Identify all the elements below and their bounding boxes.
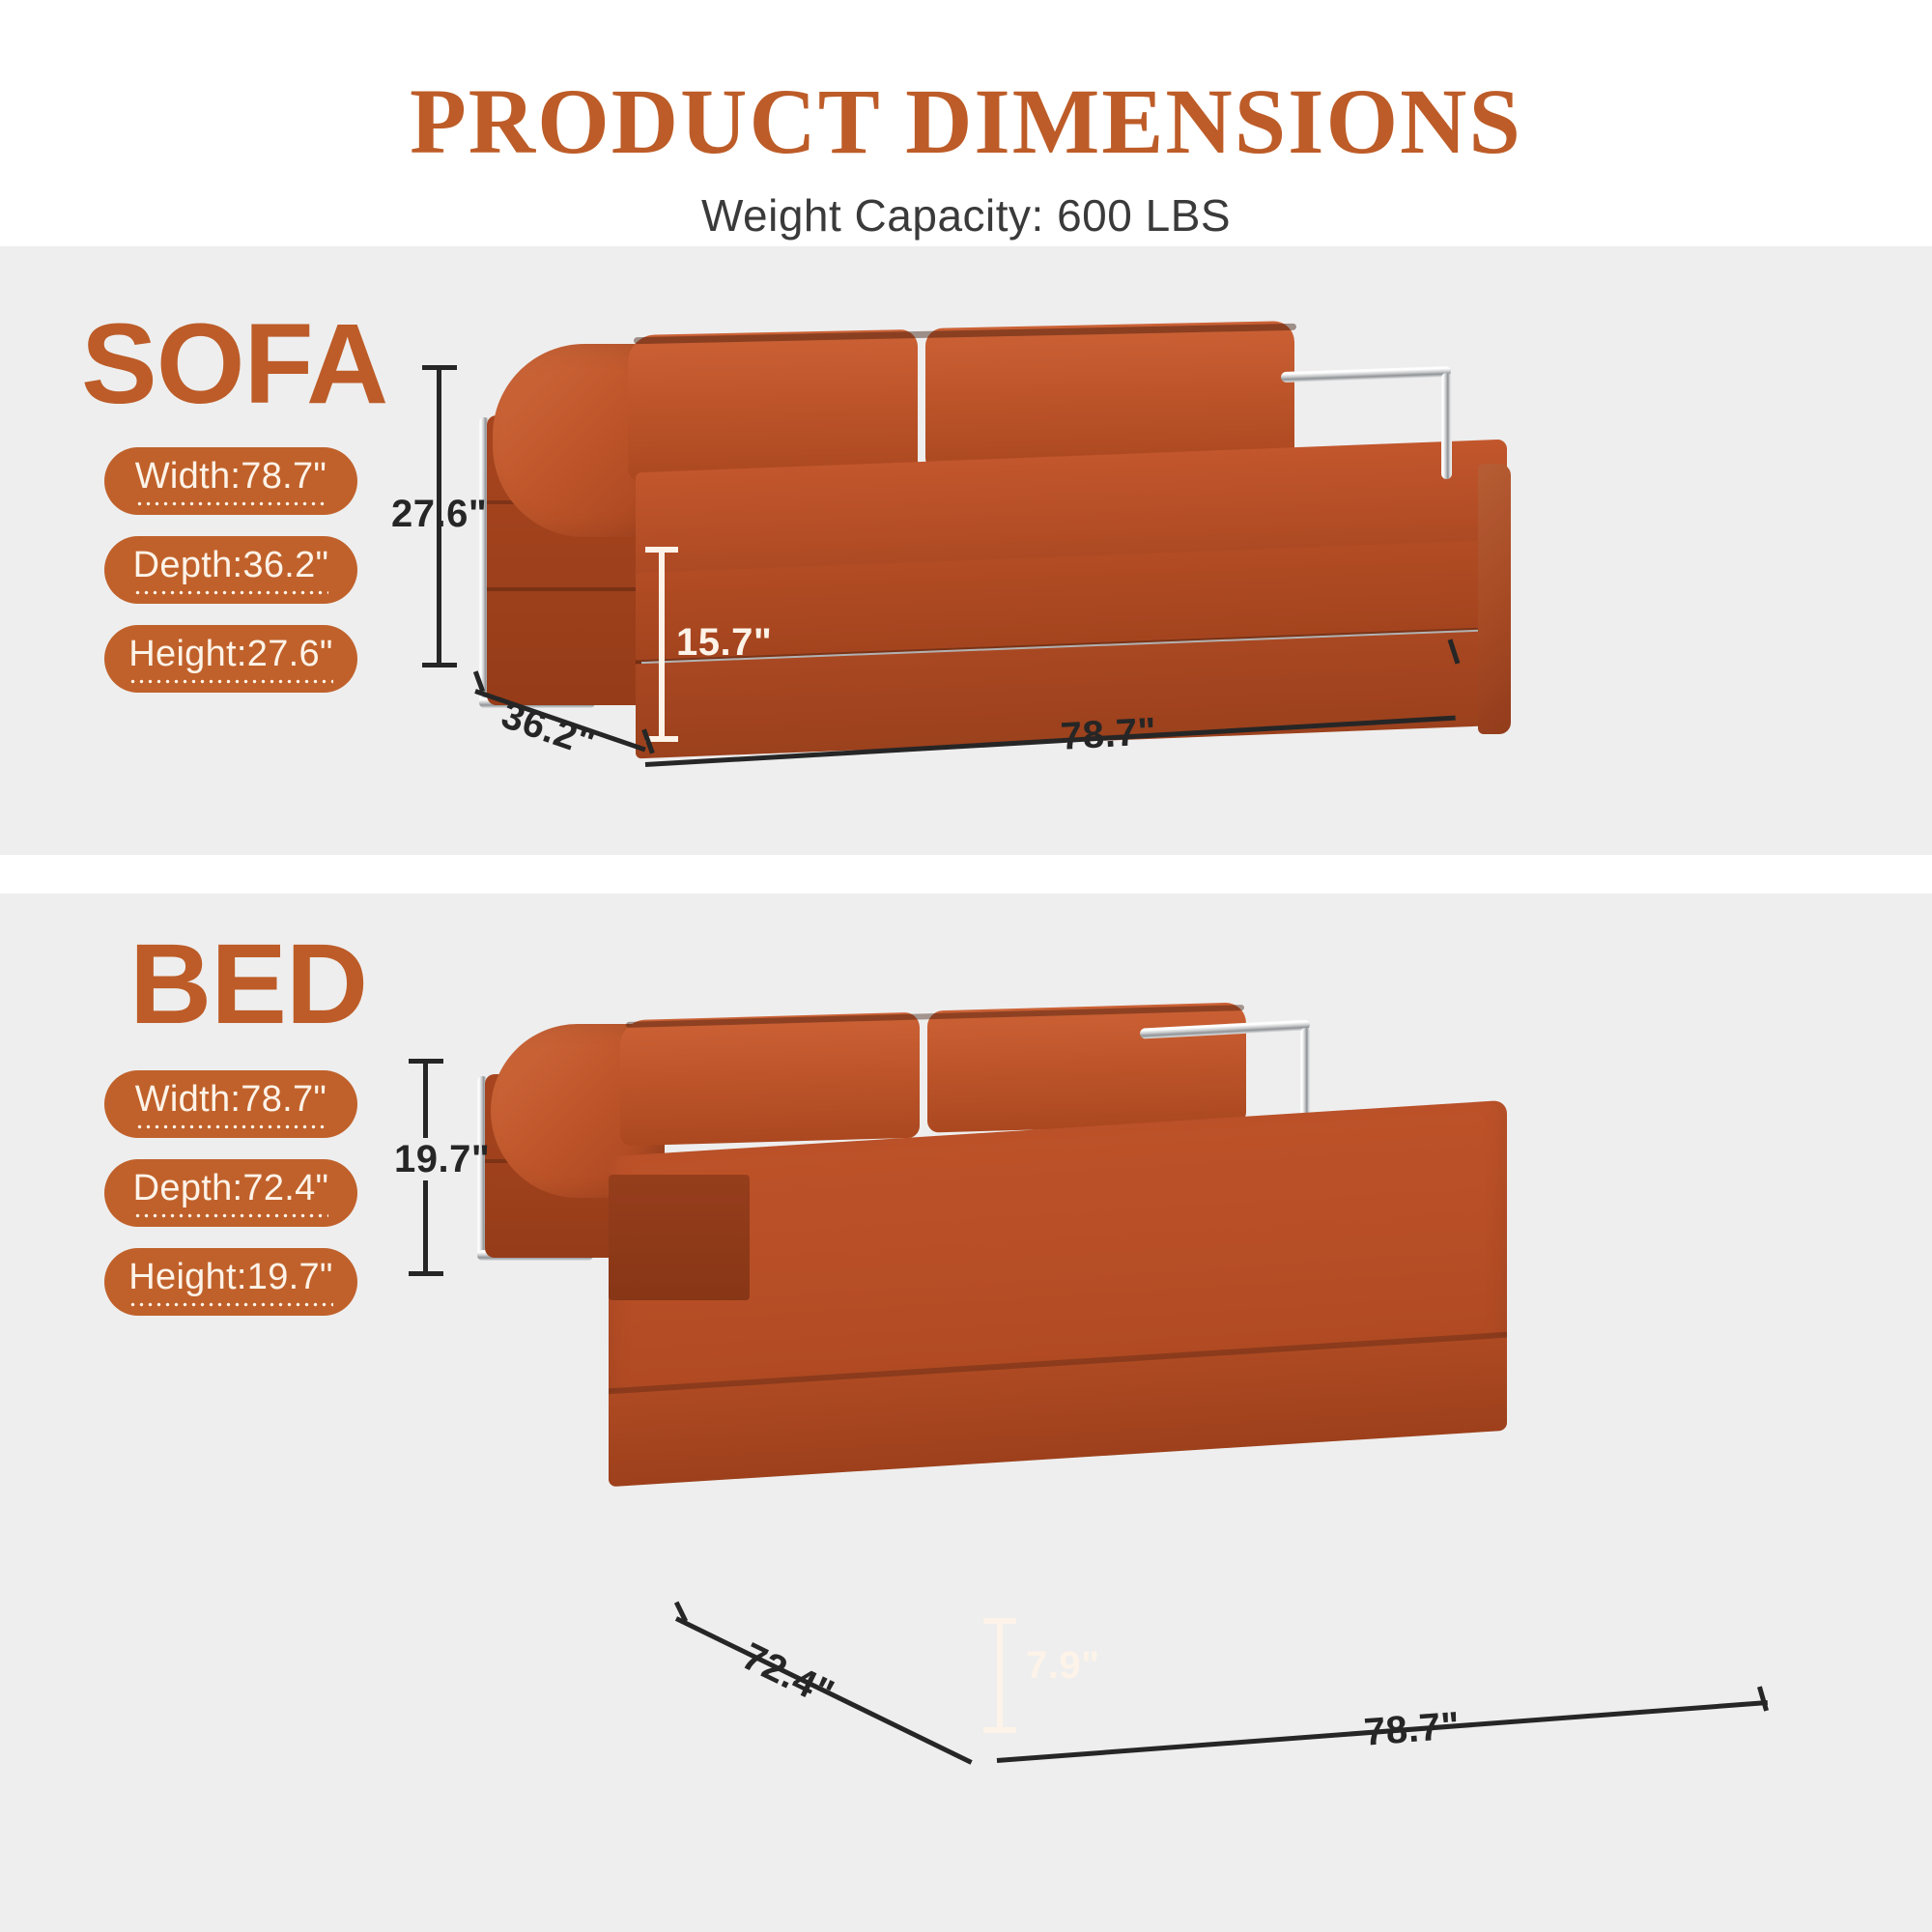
page-title: PRODUCT DIMENSIONS [410,75,1522,168]
sofa-height-dim-label: 27.6" [391,493,487,536]
sofa-height-dim-cap-bottom [422,663,457,668]
bed-pill-depth-text: Depth:72.4" [133,1168,329,1218]
bed-height-dim-label: 19.7" [394,1138,490,1181]
sofa-chrome-rail-right-vert [1441,373,1452,479]
sofa-seat-height-line [659,547,665,740]
bed-pill-height: Height:19.7" [104,1248,357,1316]
sofa-width-dim-label: 78.7" [1060,710,1158,759]
sofa-pill-height: Height:27.6" [104,625,357,693]
bed-pill-width-text: Width:78.7" [135,1079,327,1129]
bed-illustration [464,1005,1546,1623]
header: PRODUCT DIMENSIONS Weight Capacity: 600 … [0,0,1932,246]
bed-pill-depth: Depth:72.4" [104,1159,357,1227]
sofa-right-end-cap [1478,464,1511,734]
bed-section-label: BED [129,927,367,1041]
panel-divider [0,855,1932,894]
sofa-seat-height-label: 15.7" [676,621,772,665]
bed-mattress-height-cap-bottom [983,1727,1016,1733]
bed-mattress-height-label: 7.9" [1026,1644,1100,1688]
bed-height-dim-line-upper [423,1059,428,1138]
bed-pill-width: Width:78.7" [104,1070,357,1138]
product-dimensions-infographic: PRODUCT DIMENSIONS Weight Capacity: 600 … [0,0,1932,1932]
bed-base-block [609,1175,750,1300]
bed-height-dim-line-lower [423,1180,428,1275]
sofa-illustration [464,319,1526,773]
bed-pill-height-text: Height:19.7" [128,1257,332,1307]
bed-mattress-height-line [997,1618,1003,1731]
sofa-pill-height-text: Height:27.6" [128,634,332,684]
bed-height-dim-cap-bottom [409,1271,443,1276]
sofa-pill-width-text: Width:78.7" [135,456,327,506]
sofa-pill-depth: Depth:36.2" [104,536,357,604]
sofa-pill-width: Width:78.7" [104,447,357,515]
sofa-left-side-seam-2 [487,587,641,591]
bed-bolster-cushion-1 [620,1012,920,1147]
sofa-pill-depth-text: Depth:36.2" [133,545,329,595]
sofa-section-label: SOFA [81,307,387,421]
sofa-chrome-rail-right-top [1281,366,1451,383]
sofa-bolster-cushion-1 [628,329,918,482]
bed-width-dim-label: 78.7" [1362,1704,1461,1754]
bed-bolster-cushion-2 [927,1002,1246,1132]
weight-capacity-subtitle: Weight Capacity: 600 LBS [701,189,1231,241]
